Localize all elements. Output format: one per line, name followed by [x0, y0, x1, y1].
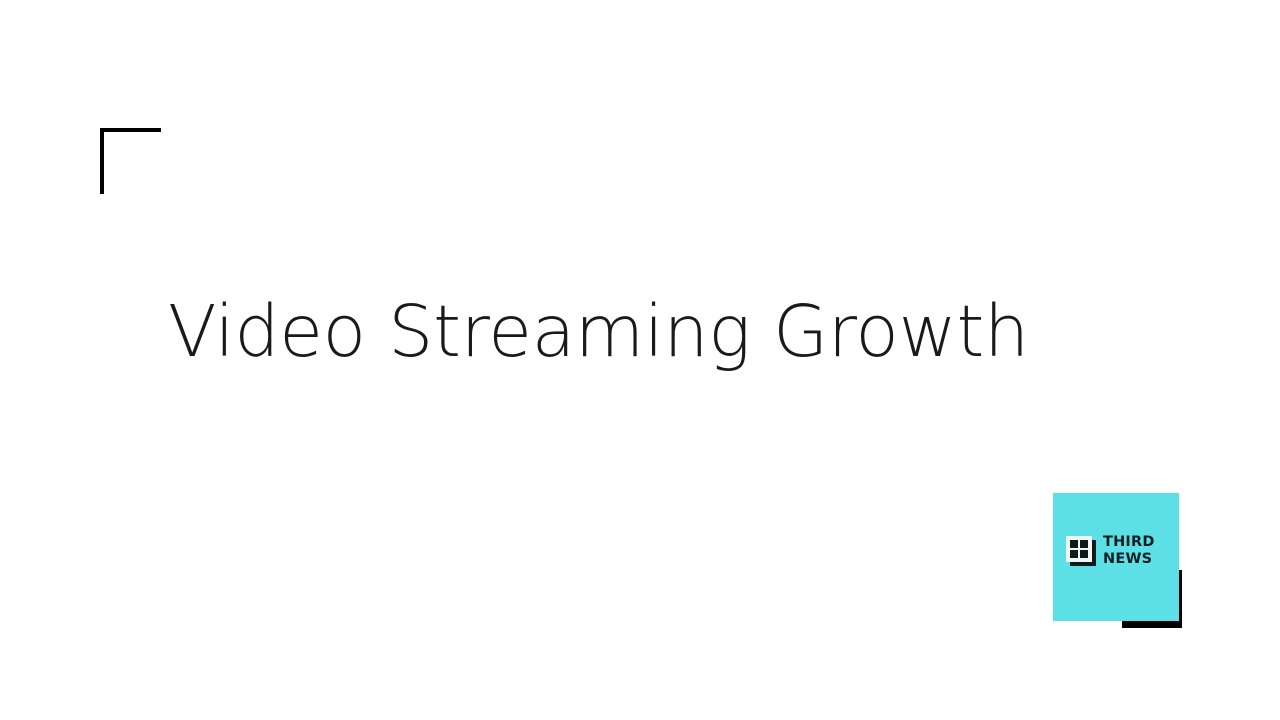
- pane-top-right: [1080, 540, 1088, 548]
- logo-badge: THIRD NEWS: [1053, 493, 1179, 621]
- logo-word-line1: THIRD: [1103, 535, 1155, 550]
- corner-bracket-vertical-bar: [100, 128, 104, 194]
- title-block: Video Streaming Growth: [168, 296, 1068, 367]
- corner-bracket-horizontal-bar: [100, 128, 161, 132]
- logo-word-line2: NEWS: [1103, 552, 1155, 567]
- pane-bottom-left: [1070, 550, 1078, 558]
- newspaper-window-icon-panes: [1070, 540, 1088, 558]
- logo-lockup: THIRD NEWS: [1066, 535, 1155, 566]
- presentation-slide: Video Streaming Growth THIRD NEWS: [0, 0, 1280, 720]
- pane-top-left: [1070, 540, 1078, 548]
- slide-title: Video Streaming Growth: [168, 296, 1068, 367]
- corner-bracket-decoration: [100, 128, 161, 194]
- pane-bottom-right: [1080, 550, 1088, 558]
- logo-wordmark: THIRD NEWS: [1103, 535, 1155, 566]
- newspaper-window-icon: [1066, 536, 1096, 566]
